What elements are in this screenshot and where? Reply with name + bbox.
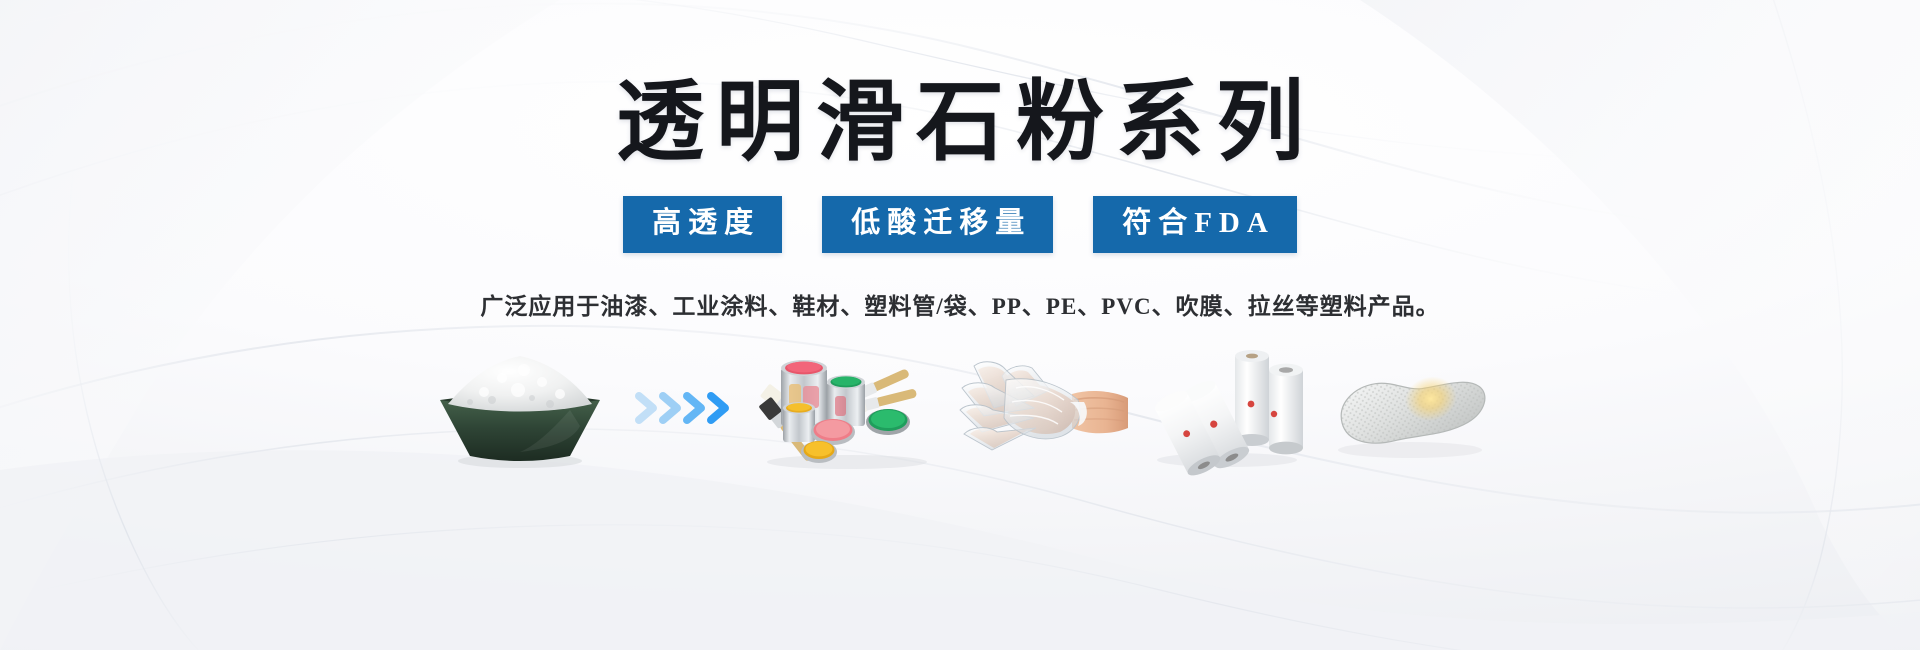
banner-content: 透明滑石粉系列 高透度 低酸迁移量 符合FDA 广泛应用于油漆、工业涂料、鞋材、… — [0, 0, 1920, 650]
talc-powder-bowl-image — [415, 343, 625, 473]
feature-badge-list: 高透度 低酸迁移量 符合FDA — [623, 196, 1297, 253]
paint-cans-image — [745, 343, 945, 473]
status-badge-transparency: 高透度 — [623, 196, 782, 253]
application-description: 广泛应用于油漆、工业涂料、鞋材、塑料管/袋、PP、PE、PVC、吹膜、拉丝等塑料… — [480, 287, 1439, 321]
pe-glove-image — [945, 343, 1135, 473]
arrow-chevrons-icon — [625, 343, 745, 473]
status-badge-fda-compliant: 符合FDA — [1093, 196, 1297, 253]
status-badge-low-acid-migration: 低酸迁移量 — [822, 196, 1053, 253]
promo-banner: 透明滑石粉系列 高透度 低酸迁移量 符合FDA 广泛应用于油漆、工业涂料、鞋材、… — [0, 0, 1920, 650]
product-application-strip — [410, 343, 1510, 473]
shoe-sole-image — [1315, 343, 1505, 473]
page-title: 透明滑石粉系列 — [604, 78, 1316, 170]
film-rolls-image — [1135, 343, 1315, 473]
